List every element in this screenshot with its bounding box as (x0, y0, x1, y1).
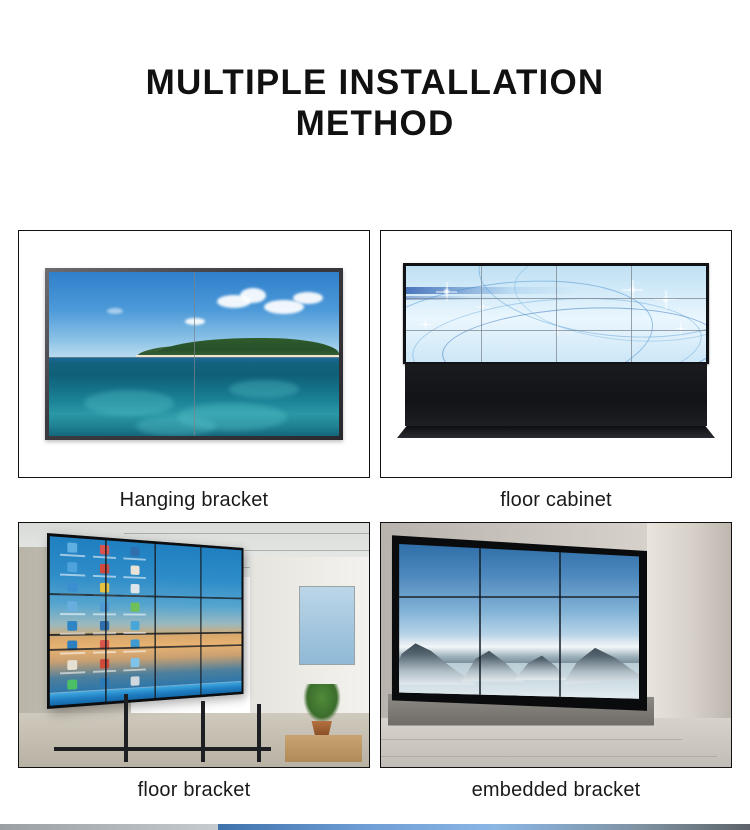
panel-floor-cabinet[interactable]: floor cabinet (380, 230, 732, 512)
sparkle-icon (628, 285, 637, 294)
desktop-icon[interactable] (121, 602, 149, 615)
caption-floor-bracket: floor bracket (18, 768, 370, 802)
sparkle-icon (442, 287, 451, 296)
window (299, 586, 355, 664)
desktop-icon[interactable] (57, 541, 88, 557)
accent-bar-gray (0, 824, 218, 830)
desktop-icon[interactable] (90, 658, 119, 673)
potted-plant (303, 684, 342, 723)
sparkle-icon (480, 304, 486, 310)
desktop-icon[interactable] (121, 621, 149, 634)
embedded-videowall-frame (392, 535, 648, 711)
floor-cabinet-base (397, 426, 715, 438)
sparkle-icon (661, 295, 670, 304)
floor-bracket-post (201, 701, 205, 762)
desktop-icon[interactable] (90, 544, 119, 559)
grid-row-bottom: floor bracket (18, 522, 732, 802)
videowall-screen (50, 536, 242, 705)
desktop-icon[interactable] (121, 565, 149, 579)
desktop-icon[interactable] (90, 563, 119, 578)
caption-embedded-bracket: embedded bracket (380, 768, 732, 802)
desktop-icon[interactable] (57, 621, 88, 635)
floor-tile-line (381, 739, 682, 740)
bottom-accent-bar (0, 824, 750, 830)
panel-embedded-bracket[interactable]: embedded bracket (380, 522, 732, 802)
cloud-icon (185, 318, 205, 325)
desktop-icon[interactable] (57, 601, 88, 615)
floor-bracket-rail (54, 747, 271, 751)
floor-bracket-post (124, 694, 128, 762)
accent-bar-blue (218, 824, 750, 830)
cloud-icon (293, 292, 323, 304)
desktop-icon[interactable] (90, 602, 119, 616)
desktop-icon[interactable] (121, 546, 149, 561)
page-title-line1: MULTIPLE INSTALLATION (146, 63, 605, 102)
embedded-bracket-image (380, 522, 732, 768)
desktop-icons (57, 541, 149, 694)
videowall-screen (49, 272, 339, 436)
desktop-icon[interactable] (121, 583, 149, 597)
floor-bracket-image (18, 522, 370, 768)
desktop-icon[interactable] (57, 659, 88, 674)
floor-cabinet-image (380, 230, 732, 478)
videowall-with-cabinet (403, 263, 709, 453)
page-title: MULTIPLE INSTALLATION METHOD (0, 0, 750, 145)
videowall-bezel (45, 268, 343, 440)
desktop-icon[interactable] (90, 640, 119, 654)
panel-hanging-bracket[interactable]: Hanging bracket (18, 230, 370, 512)
installation-method-grid: Hanging bracket (18, 230, 732, 802)
videowall-screen (406, 266, 706, 362)
sparkle-icon (555, 328, 560, 333)
room-render (381, 523, 731, 767)
caption-floor-cabinet: floor cabinet (380, 478, 732, 512)
hanging-bracket-image (18, 230, 370, 478)
side-wall (647, 523, 731, 738)
page-title-line2: METHOD (0, 103, 750, 144)
desktop-icon[interactable] (90, 582, 119, 596)
sparkle-icon (678, 325, 683, 330)
videowall-bezel (403, 263, 709, 364)
floor-cabinet-body (405, 364, 707, 426)
desktop-icon[interactable] (57, 581, 88, 596)
office-photo (19, 523, 369, 767)
panel-floor-bracket[interactable]: floor bracket (18, 522, 370, 802)
caption-hanging-bracket: Hanging bracket (18, 478, 370, 512)
desktop-icon[interactable] (57, 640, 88, 654)
desktop-icon[interactable] (57, 561, 88, 576)
floor-tile-line (381, 756, 717, 757)
reef (136, 416, 216, 436)
floor-bracket-post (257, 704, 261, 763)
ceiling-line (124, 533, 369, 534)
desktop-icon[interactable] (90, 621, 119, 634)
cardboard-box (285, 735, 362, 762)
videowall-angled (47, 533, 243, 709)
reef (84, 390, 174, 416)
videowall-screen (399, 544, 639, 700)
desktop-icon[interactable] (121, 639, 149, 653)
sparkle-icon (423, 322, 428, 327)
desktop-icon[interactable] (121, 657, 149, 671)
grid-row-top: Hanging bracket (18, 230, 732, 512)
